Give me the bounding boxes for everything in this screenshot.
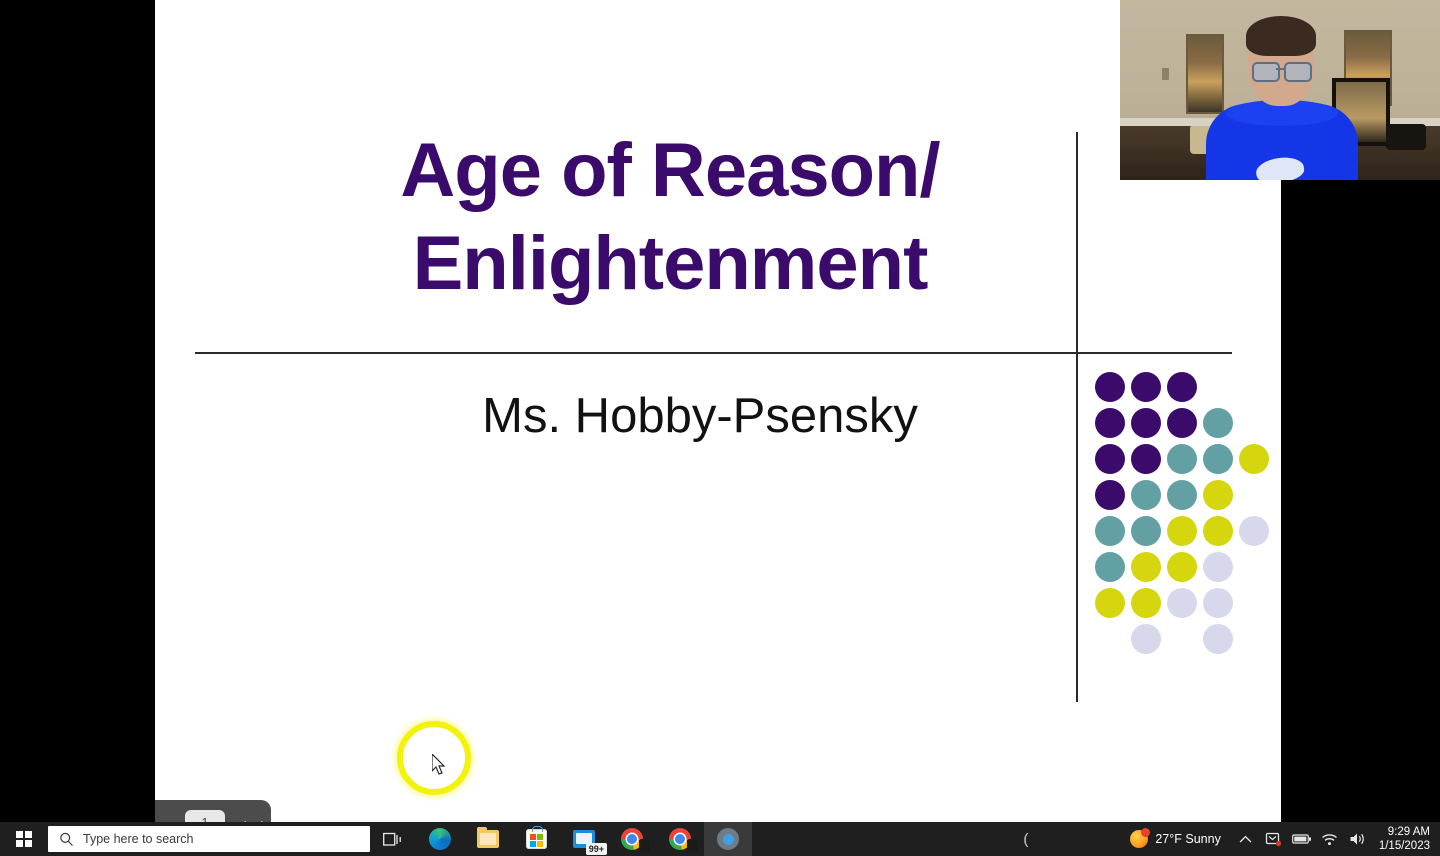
screen: Age of Reason/ Enlightenment Ms. Hobby-P… <box>0 0 1440 856</box>
decoration-dot-yellow <box>1239 444 1269 474</box>
battery-icon[interactable] <box>1289 822 1315 856</box>
taskbar-item-microsoft-edge[interactable] <box>416 822 464 856</box>
taskbar-item-file-explorer[interactable] <box>464 822 512 856</box>
previous-slide-icon[interactable]: ◂ <box>239 815 246 822</box>
decoration-dot-teal <box>1167 480 1197 510</box>
presenter-webcam-video[interactable] <box>1120 0 1440 180</box>
chevron-up-icon <box>1239 835 1252 844</box>
taskbar-item-mail[interactable]: 99+ <box>560 822 608 856</box>
decoration-dot-teal <box>1203 408 1233 438</box>
decoration-dot-purple <box>1131 408 1161 438</box>
taskbar-item-google-chrome-2[interactable] <box>656 822 704 856</box>
slide-subtitle: Ms. Hobby-Psensky <box>195 388 1205 444</box>
decoration-dot-yellow <box>1167 552 1197 582</box>
decoration-dot-teal <box>1131 480 1161 510</box>
decoration-dot-teal <box>1203 444 1233 474</box>
sun-icon <box>1130 830 1148 848</box>
decoration-dot-yellow <box>1203 516 1233 546</box>
slide-title: Age of Reason/ Enlightenment <box>195 125 1145 310</box>
slide-title-line-2: Enlightenment <box>195 218 1145 311</box>
windows-taskbar[interactable]: Type here to search 99+ <box>0 822 1440 856</box>
onedrive-icon[interactable] <box>1261 822 1287 856</box>
microsoft-store-icon <box>526 829 547 849</box>
taskbar-item-meeting-app[interactable] <box>704 822 752 856</box>
chrome-window-thumbnail <box>639 839 650 852</box>
clock-time: 9:29 AM <box>1379 825 1430 839</box>
decoration-dot-teal <box>1095 516 1125 546</box>
decoration-dot-lavender <box>1203 588 1233 618</box>
wall-switch <box>1162 68 1169 80</box>
weather-text: 27°F Sunny <box>1155 832 1220 846</box>
decoration-dot-lavender <box>1131 624 1161 654</box>
taskbar-item-microsoft-store[interactable] <box>512 822 560 856</box>
mail-unread-badge: 99+ <box>586 843 607 855</box>
search-icon <box>58 831 75 848</box>
weather-condition: Sunny <box>1185 832 1220 846</box>
decoration-dot-yellow <box>1203 480 1233 510</box>
file-explorer-icon <box>477 830 499 848</box>
search-placeholder-text: Type here to search <box>83 832 193 846</box>
decoration-dot-yellow <box>1131 552 1161 582</box>
decoration-dot-purple <box>1131 444 1161 474</box>
decoration-dot-lavender <box>1203 552 1233 582</box>
decoration-dot-purple <box>1095 372 1125 402</box>
decoration-dot-teal <box>1095 552 1125 582</box>
taskbar-overflow-glyph: ( <box>1023 831 1028 848</box>
mouse-cursor-icon <box>432 754 446 776</box>
decoration-dot-purple <box>1095 480 1125 510</box>
weather-temperature: 27°F <box>1155 832 1182 846</box>
taskbar-item-google-chrome[interactable] <box>608 822 656 856</box>
decoration-dot-yellow <box>1167 516 1197 546</box>
presentation-slide[interactable]: Age of Reason/ Enlightenment Ms. Hobby-P… <box>155 0 1281 822</box>
meeting-app-icon <box>717 828 739 850</box>
task-view-icon <box>383 831 403 848</box>
task-view-button[interactable] <box>370 822 416 856</box>
slide-number-indicator[interactable]: 1 <box>185 810 225 822</box>
decoration-dot-purple <box>1167 372 1197 402</box>
glasses-lens-right <box>1284 62 1312 82</box>
search-input[interactable]: Type here to search <box>48 826 370 852</box>
weather-widget[interactable]: 27°F Sunny <box>1122 830 1228 848</box>
decoration-dot-purple <box>1095 444 1125 474</box>
decoration-dot-purple <box>1167 408 1197 438</box>
taskbar-clock[interactable]: 9:29 AM 1/15/2023 <box>1375 825 1440 853</box>
presenter-hair <box>1246 16 1316 56</box>
windows-logo-icon <box>16 831 32 847</box>
decoration-dot-lavender <box>1167 588 1197 618</box>
decoration-dot-purple <box>1095 408 1125 438</box>
show-hidden-icons-button[interactable] <box>1233 822 1259 856</box>
decoration-dot-yellow <box>1095 588 1125 618</box>
slide-title-line-1: Age of Reason/ <box>195 125 1145 218</box>
decoration-dot-lavender <box>1203 624 1233 654</box>
wifi-icon[interactable] <box>1317 822 1343 856</box>
wall-painting-left <box>1186 34 1224 114</box>
decoration-dot-yellow <box>1131 588 1161 618</box>
decoration-dot-teal <box>1167 444 1197 474</box>
edge-icon <box>429 828 451 850</box>
system-tray[interactable] <box>1229 822 1375 856</box>
dot-grid-decoration <box>1095 372 1280 662</box>
clock-date: 1/15/2023 <box>1379 839 1430 853</box>
decoration-dot-purple <box>1131 372 1161 402</box>
chrome-window-thumbnail <box>687 839 698 852</box>
start-button[interactable] <box>0 822 48 856</box>
presenter-glasses-icon <box>1252 62 1310 78</box>
desk-object <box>1386 124 1426 150</box>
presentation-control-bar[interactable]: 1 ◂ ▸ <box>155 800 271 822</box>
decoration-dot-lavender <box>1239 516 1269 546</box>
volume-icon[interactable] <box>1345 822 1371 856</box>
decoration-dot-teal <box>1131 516 1161 546</box>
next-slide-icon[interactable]: ▸ <box>261 815 268 822</box>
glasses-lens-left <box>1252 62 1280 82</box>
glasses-bridge <box>1276 68 1284 70</box>
